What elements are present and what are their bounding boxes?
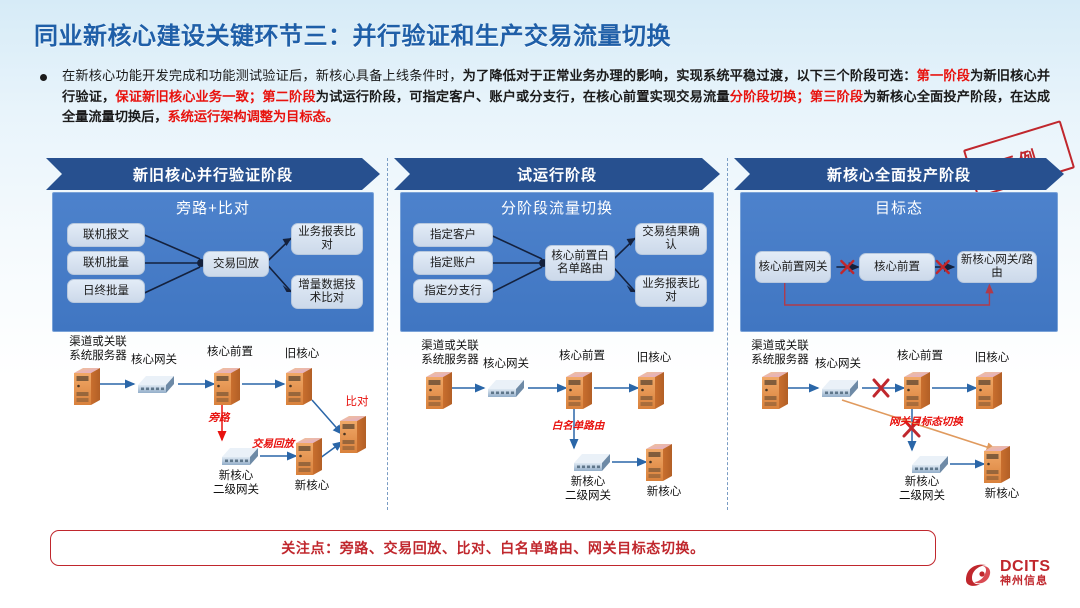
column-divider-2 <box>727 158 728 510</box>
paragraph-segment: 在新核心功能开发完成和功能测试验证后，新核心具备上线条件时， <box>62 68 463 83</box>
paragraph-segment: 保证新旧核心业务一致； <box>115 89 262 104</box>
flow-panel-2: 分阶段流量切换 指定客户 指定账户 指定分支行 核心前置白名 <box>400 192 714 332</box>
flow1-input-2[interactable]: 联机批量 <box>67 251 145 275</box>
diagram3-label-frontend: 核心前置 <box>884 350 956 364</box>
flow-panel-3: 目标态 <box>740 192 1058 332</box>
flow2-hub[interactable]: 核心前置白名单路由 <box>545 245 615 281</box>
brand-name-en: DCITS <box>1000 558 1051 575</box>
page-title: 同业新核心建设关键环节三：并行验证和生产交易流量切换 <box>34 16 671 51</box>
intro-paragraph: 在新核心功能开发完成和功能测试验证后，新核心具备上线条件时，为了降低对于正常业务… <box>62 66 1050 128</box>
flow3-node-3[interactable]: 新核心网关/路由 <box>957 251 1037 283</box>
flow-panel-1: 旁路+比对 联机报文 联机批量 日终批量 交易回放 <box>52 192 374 332</box>
diagram1-label-new-gateway: 新核心 二级网关 <box>198 470 274 497</box>
brand-name-cn: 神州信息 <box>1000 575 1051 588</box>
diagram1-label-frontend: 核心前置 <box>194 346 266 360</box>
diagram3-label-gateway-switch: 网关目标态切换 <box>874 416 978 430</box>
phase-banner-1[interactable]: 新旧核心并行验证阶段 <box>46 158 380 190</box>
flow1-output-1[interactable]: 业务报表比对 <box>291 223 363 255</box>
flow2-output-1[interactable]: 交易结果确认 <box>635 223 707 255</box>
diagram1-label-new-core: 新核心 <box>278 480 346 494</box>
bullet-dot-icon <box>40 74 47 81</box>
diagram3-label-old-core: 旧核心 <box>962 352 1022 366</box>
dcits-swoosh-icon <box>962 560 996 590</box>
paragraph-segment: 第三阶段 <box>810 89 864 104</box>
diagram1-label-gateway: 核心网关 <box>122 354 186 368</box>
flow1-output-2[interactable]: 增量数据技术比对 <box>291 275 363 309</box>
diagram2-label-old-core: 旧核心 <box>624 352 684 366</box>
server-diagram-3: 渠道或关联 系统服务器 核心网关 核心前置 旧核心 网关目标态切换 新核心 二级… <box>734 338 1064 522</box>
paragraph-segment: 系统运行架构调整为目标态。 <box>168 109 339 124</box>
key-points-note: 关注点：旁路、交易回放、比对、白名单路由、网关目标态切换。 <box>50 530 936 566</box>
phase-column-1: 旁路+比对 联机报文 联机批量 日终批量 交易回放 <box>46 192 380 522</box>
paragraph-segment: 第二阶段 <box>262 89 316 104</box>
intro-paragraph-block: 在新核心功能开发完成和功能测试验证后，新核心具备上线条件时，为了降低对于正常业务… <box>36 66 1050 128</box>
flow2-input-3[interactable]: 指定分支行 <box>413 279 493 303</box>
flow3-node-2[interactable]: 核心前置 <box>859 253 935 281</box>
diagram3-label-new-core: 新核心 <box>968 488 1036 502</box>
phase-columns: 旁路+比对 联机报文 联机批量 日终批量 交易回放 <box>46 192 1046 522</box>
diagram2-label-frontend: 核心前置 <box>546 350 618 364</box>
paragraph-segment: 为了降低对于正常业务办理的影响，实现系统平稳过渡，以下三个阶段可选： <box>463 68 917 83</box>
paragraph-segment: 分阶段切换； <box>730 89 810 104</box>
paragraph-segment: 第一阶段 <box>917 68 970 83</box>
diagram2-label-new-core: 新核心 <box>630 486 698 500</box>
flow1-input-1[interactable]: 联机报文 <box>67 223 145 247</box>
phase-banner-3[interactable]: 新核心全面投产阶段 <box>734 158 1064 190</box>
server-diagram-2: 渠道或关联 系统服务器 核心网关 核心前置 旧核心 白名单路由 新核心 二级网关… <box>394 338 720 522</box>
diagram3-label-new-gateway: 新核心 二级网关 <box>884 476 960 503</box>
flow2-input-2[interactable]: 指定账户 <box>413 251 493 275</box>
paragraph-segment: 为试运行阶段，可指定客户、账户或分支行，在核心前置实现交易流量 <box>316 89 730 104</box>
diagram1-label-bypass: 旁路 <box>196 412 242 426</box>
diagram3-label-gateway: 核心网关 <box>806 358 870 372</box>
flow2-input-1[interactable]: 指定客户 <box>413 223 493 247</box>
diagram2-label-gateway: 核心网关 <box>474 358 538 372</box>
brand-logo: DCITS 神州信息 <box>962 558 1072 598</box>
diagram2-label-whitelist-route: 白名单路由 <box>542 420 614 434</box>
diagram1-label-compare: 比对 <box>334 396 380 410</box>
brand-logo-text: DCITS 神州信息 <box>1000 558 1051 588</box>
slide-root: 同业新核心建设关键环节三：并行验证和生产交易流量切换 在新核心功能开发完成和功能… <box>0 0 1080 608</box>
phase-column-2: 分阶段流量切换 指定客户 指定账户 指定分支行 核心前置白名 <box>394 192 720 522</box>
phase-column-3: 目标态 <box>734 192 1064 522</box>
diagram2-label-new-gateway: 新核心 二级网关 <box>550 476 626 503</box>
flow1-input-3[interactable]: 日终批量 <box>67 279 145 303</box>
server-diagram-1: 渠道或关联 系统服务器 核心网关 核心前置 旧核心 比对 旁路 交易回放 新核心… <box>46 338 380 522</box>
flow3-node-1[interactable]: 核心前置网关 <box>755 251 831 283</box>
flow1-hub[interactable]: 交易回放 <box>203 251 269 277</box>
diagram1-label-replay: 交易回放 <box>242 438 304 452</box>
phase-banner-row: 新旧核心并行验证阶段 试运行阶段 新核心全面投产阶段 <box>46 158 1046 190</box>
column-divider-1 <box>387 158 388 510</box>
diagram1-label-old-core: 旧核心 <box>272 348 332 362</box>
phase-banner-2[interactable]: 试运行阶段 <box>394 158 720 190</box>
flow2-output-2[interactable]: 业务报表比对 <box>635 275 707 307</box>
